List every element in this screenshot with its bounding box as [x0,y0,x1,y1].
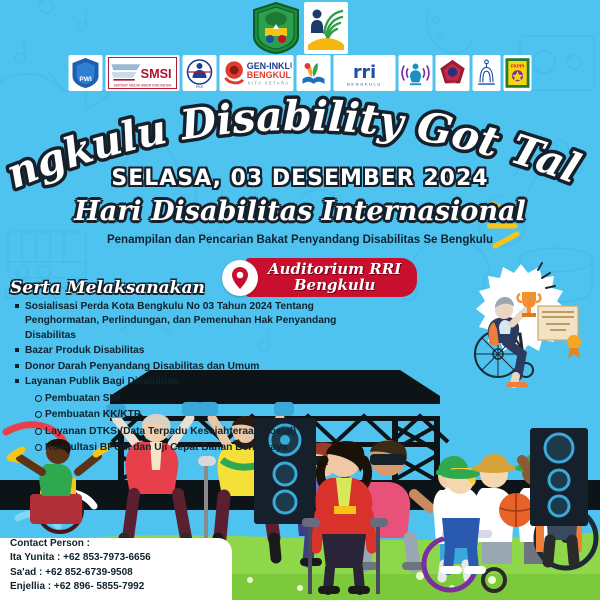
venue-line-2: Bengkulu [268,277,401,293]
svg-text:LKD: LKD [449,82,457,86]
event-date: SELASA, 03 DESEMBER 2024 [0,166,600,191]
svg-text:PKK: PKK [196,85,204,89]
contact-info: Contact Person : Ita Yunita : +62 853-79… [10,537,151,594]
rri-logo: rri BENGKULU [334,55,396,91]
program-item: Bazar Produk Disabilitas [12,344,372,358]
speaker-stack-right-illustration [528,428,590,528]
contact-person: Enjellia : +62 896- 5855-7992 [10,580,151,594]
smsi-logo: SMSI SERIKAT MEDIA SIBER INDONESIA [106,55,180,91]
pkk-logo: PKK [183,55,217,91]
gen-inklusi-bengkulu-logo: GEN-INKLUSI BENGKULU KITA SETARA [220,55,294,91]
program-heading: Serta Melaksanakan [10,278,205,298]
svg-text:rri: rri [353,63,376,83]
program-item: Layanan Publik Bagi Disabilitas [12,375,372,389]
location-pin-icon [222,260,258,296]
pertiwi-logo [473,55,501,91]
svg-text:KITA SETARA: KITA SETARA [248,81,290,86]
perpustakaan-logo [297,55,331,91]
program-item: Donor Darah Penyandang Disabilitas dan U… [12,360,372,374]
lkd-logo: LKD [436,55,470,91]
program-sublist: Pembuatan SIM Pembuatan KK/KTP Layanan D… [32,392,372,456]
pwi-logo: PWI [69,55,103,91]
svg-text:PWI: PWI [79,76,91,83]
fkpm-logo: FKPPI [504,55,532,91]
disabilitas-logo [399,55,433,91]
program-subitem: Layanan DTKS (Data Terpadu Kesejahteraan… [32,425,372,439]
svg-text:FKPPI: FKPPI [511,63,525,68]
svg-text:SERIKAT MEDIA SIBER INDONESIA: SERIKAT MEDIA SIBER INDONESIA [114,84,173,88]
figure-woman-red-blazer [296,438,392,600]
dinas-sosial-palm-logo [304,2,348,54]
partner-logo-strip: PWI SMSI SERIKAT MEDIA SIBER INDONESIA P… [69,55,532,91]
program-subitem: Pembuatan SIM [32,392,372,406]
program-subitem: Pembuatan KK/KTP [32,408,372,422]
venue-line-1: Auditorium RRI [268,261,401,277]
contact-person: Ita Yunita : +62 853-7973-6656 [10,551,151,565]
poster-canvas: PWI SMSI SERIKAT MEDIA SIBER INDONESIA P… [0,0,600,600]
program-list: Sosialisasi Perda Kota Bengkulu No 03 Ta… [12,300,372,458]
contact-heading: Contact Person : [10,537,151,551]
svg-text:SMSI: SMSI [141,67,172,81]
figure-child-wheelchair [416,468,512,594]
event-tagline: Penampilan dan Pencarian Bakat Penyandan… [0,234,600,246]
pemerintah-kota-bengkulu-crest [252,2,300,54]
event-subtitle: Hari Disabilitas Internasional [0,196,600,227]
svg-text:BENGKULU: BENGKULU [347,82,382,87]
contact-person: Sa'ad : +62 852-6739-9508 [10,566,151,580]
government-logos [252,2,348,54]
venue-badge: Auditorium RRI Bengkulu [222,258,417,297]
wheelchair-athlete-award-illustration [446,262,596,390]
program-item: Sosialisasi Perda Kota Bengkulu No 03 Ta… [12,300,372,343]
program-subitem: Konsultasi BPOM dan Uji Cepat Bahan Berb… [32,441,372,455]
venue-name: Auditorium RRI Bengkulu [246,258,417,297]
svg-text:BENGKULU: BENGKULU [247,70,292,80]
